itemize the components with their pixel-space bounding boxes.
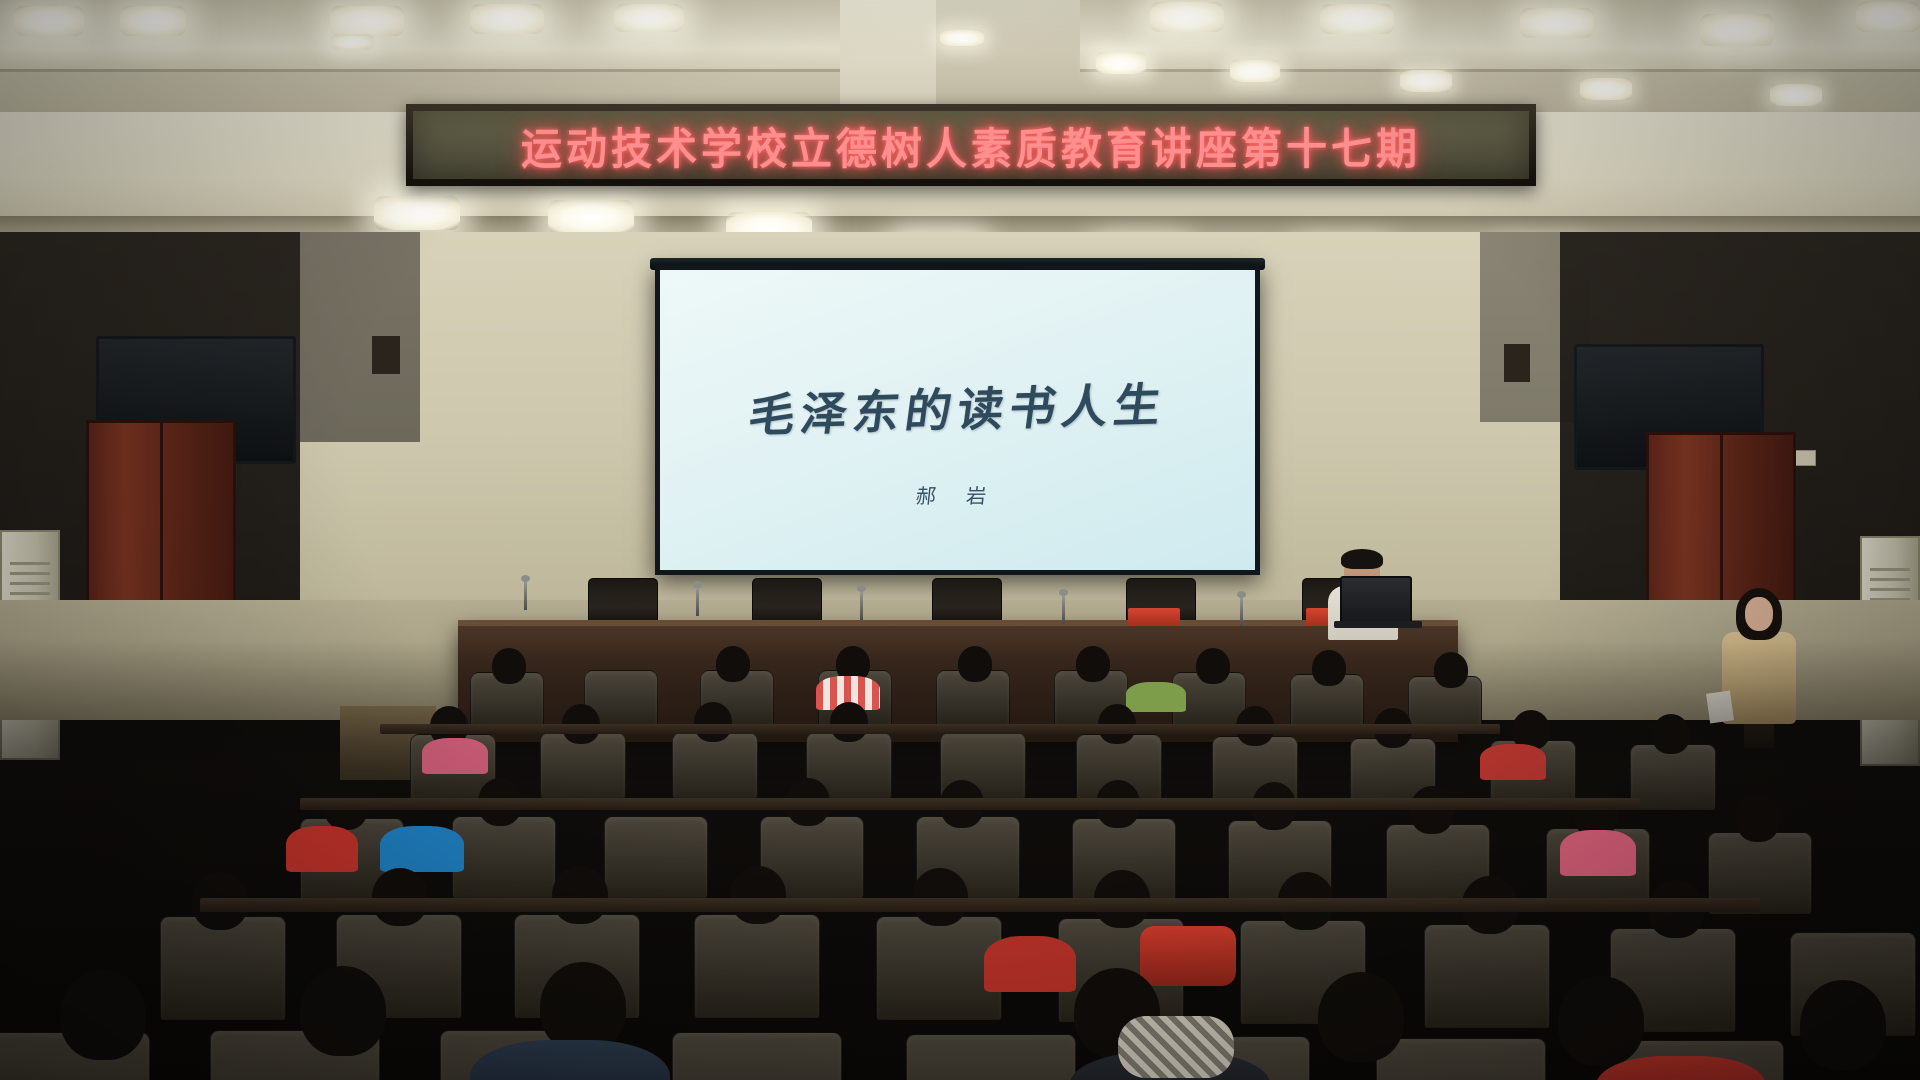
projection-screen: 毛泽东的读书人生 郝 岩 <box>660 270 1255 570</box>
lecture-hall-scene: 运动技术学校立德树人素质教育讲座第十七期 安全出口 毛泽东的读书人生 郝 岩 <box>0 0 1920 1080</box>
audience-seat[interactable] <box>1424 924 1550 1028</box>
audience-head <box>552 866 608 924</box>
table-red-item <box>1128 608 1180 626</box>
audience-head <box>830 702 868 742</box>
audience-head <box>730 866 786 924</box>
stage-chair[interactable] <box>752 578 822 626</box>
audience-seat[interactable] <box>906 1034 1076 1080</box>
audience-seat[interactable] <box>1376 1038 1546 1080</box>
ceiling-light <box>330 34 374 50</box>
audience-head <box>1434 652 1468 688</box>
audience-head <box>1652 714 1690 754</box>
microphone <box>1062 594 1065 624</box>
audience-head <box>300 966 386 1056</box>
ceiling-light <box>1230 60 1280 82</box>
audience-head <box>492 648 526 684</box>
ceiling-light <box>1770 84 1822 106</box>
microphone <box>524 580 527 610</box>
audience-head <box>1318 972 1404 1062</box>
ceiling-light <box>374 196 460 230</box>
audience-shirt-green <box>1126 682 1186 712</box>
audience-area <box>0 640 1920 1080</box>
ceiling-light <box>614 4 684 32</box>
audience-seat[interactable] <box>672 1032 842 1080</box>
stage-chair[interactable] <box>932 578 1002 626</box>
ceiling-light <box>120 6 186 36</box>
ceiling-light <box>940 30 984 46</box>
ceiling-light <box>1856 2 1920 32</box>
wall-panel-stage-left <box>300 232 420 442</box>
ceiling-light <box>1150 2 1224 32</box>
ceiling-light <box>470 4 544 34</box>
audience-patterned-top <box>1118 1016 1234 1078</box>
wall-speaker-right <box>1504 344 1530 382</box>
stage-chair[interactable] <box>588 578 658 626</box>
audience-seat[interactable] <box>604 816 708 898</box>
ceiling-light <box>548 200 634 234</box>
audience-head <box>1558 976 1644 1066</box>
speaker-laptop[interactable] <box>1340 576 1412 624</box>
event-banner: 运动技术学校立德树人素质教育讲座第十七期 <box>406 104 1536 186</box>
slide-title: 毛泽东的读书人生 <box>744 368 1170 445</box>
microphone <box>1240 596 1243 626</box>
audience-head <box>716 646 750 682</box>
audience-shirt-pink <box>1560 830 1636 876</box>
usher-face <box>1745 597 1773 631</box>
banner-title-text: 运动技术学校立德树人素质教育讲座第十七期 <box>521 113 1421 177</box>
audience-head <box>540 962 626 1052</box>
audience-head <box>1800 980 1886 1070</box>
audience-head <box>958 646 992 682</box>
audience-head <box>1196 648 1230 684</box>
ceiling-light <box>1520 8 1594 38</box>
audience-head <box>1076 646 1110 682</box>
slide-author: 郝 岩 <box>915 480 1000 509</box>
ceiling-light <box>1580 78 1632 100</box>
audience-backpack-red <box>1140 926 1236 986</box>
audience-shirt-red <box>1480 744 1546 780</box>
ceiling-light <box>1700 14 1774 46</box>
ceiling-light <box>14 6 84 36</box>
projection-screen-frame: 毛泽东的读书人生 郝 岩 <box>655 265 1260 575</box>
ceiling-light <box>1320 4 1394 34</box>
row-desk <box>380 724 1500 734</box>
speaker-hair <box>1341 549 1383 569</box>
audience-head <box>1312 650 1346 686</box>
microphone <box>696 586 699 616</box>
wall-speaker-left <box>372 336 400 374</box>
microphone <box>860 590 863 620</box>
ceiling-light <box>1096 52 1146 74</box>
audience-shirt-blue <box>380 826 464 872</box>
audience-head <box>1736 794 1780 842</box>
audience-shirt-pink <box>422 738 488 774</box>
row-desk <box>300 798 1640 810</box>
audience-head <box>912 868 968 926</box>
audience-head <box>1410 786 1454 834</box>
audience-head <box>372 868 428 926</box>
audience-seat[interactable] <box>694 914 820 1018</box>
row-desk <box>200 898 1760 912</box>
audience-shirt-red <box>984 936 1076 992</box>
ceiling-light <box>330 6 404 36</box>
audience-head <box>694 702 732 742</box>
audience-seat[interactable] <box>452 816 556 898</box>
audience-shirt-red <box>286 826 358 872</box>
audience-head <box>60 970 146 1060</box>
audience-seat[interactable] <box>160 916 286 1020</box>
ceiling-light <box>1400 70 1452 92</box>
